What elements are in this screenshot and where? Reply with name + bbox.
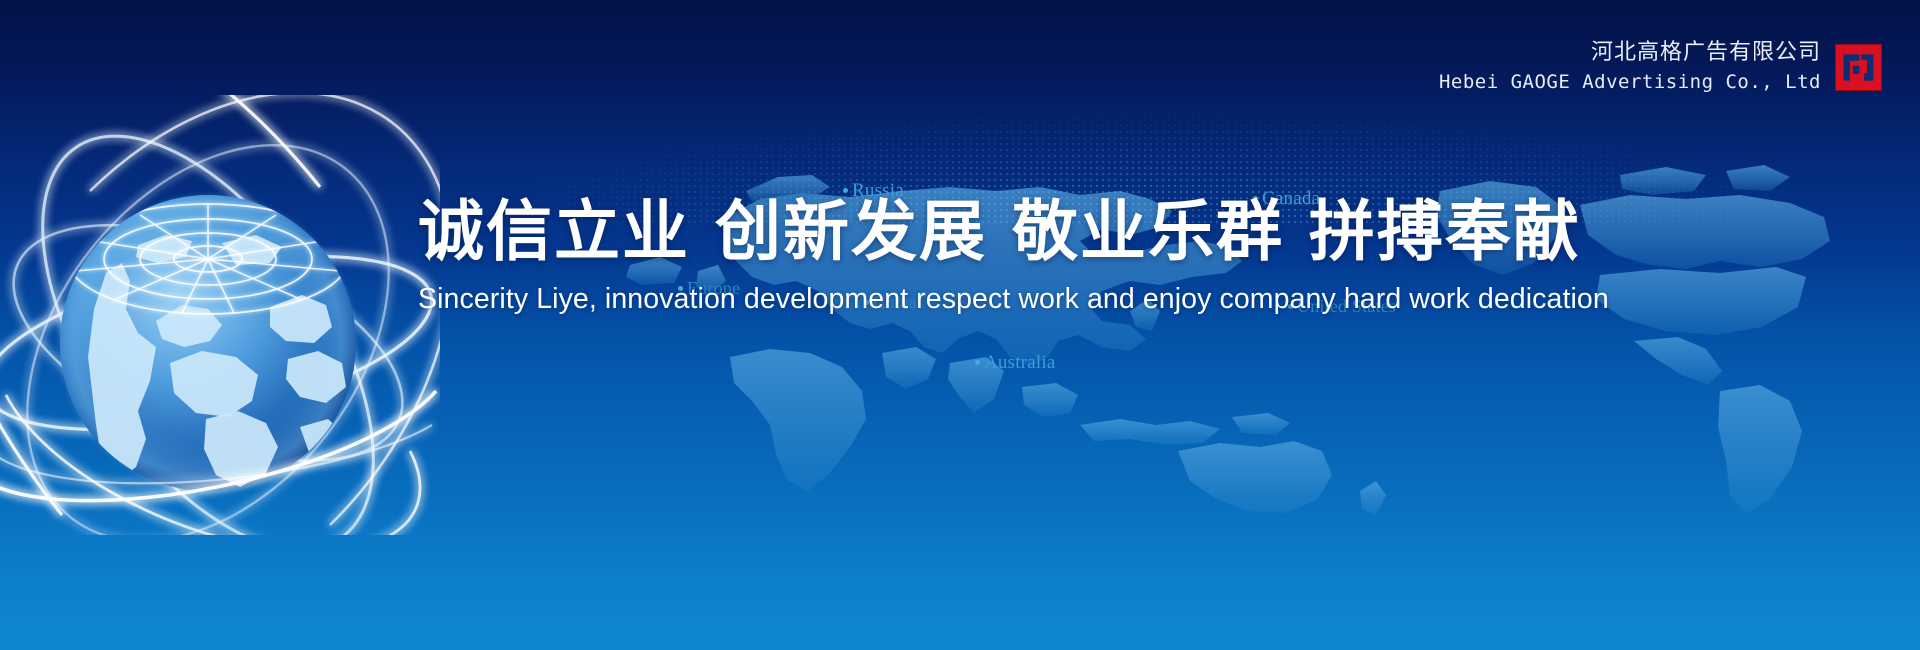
globe-with-orbits-icon [0,95,440,535]
company-name-english: Hebei GAOGE Advertising Co., Ltd [1439,68,1821,96]
map-marker-dot [975,360,980,365]
company-header: 河北高格广告有限公司 Hebei GAOGE Advertising Co., … [1439,38,1882,96]
globe-graphic [0,95,440,535]
slogan-english: Sincerity Liye, innovation development r… [418,280,1518,318]
slogan-block: 诚信立业 创新发展 敬业乐群 拼搏奉献 Sincerity Liye, inno… [418,192,1518,318]
company-names: 河北高格广告有限公司 Hebei GAOGE Advertising Co., … [1439,38,1821,96]
company-banner: Russia Canada Europe China United States… [0,0,1920,650]
gaoge-logo-icon [1835,44,1882,91]
slogan-chinese: 诚信立业 创新发展 敬业乐群 拼搏奉献 [418,192,1518,272]
map-label-text: Australia [984,352,1055,373]
map-label-australia: Australia [975,352,1055,374]
company-name-chinese: 河北高格广告有限公司 [1439,38,1821,68]
